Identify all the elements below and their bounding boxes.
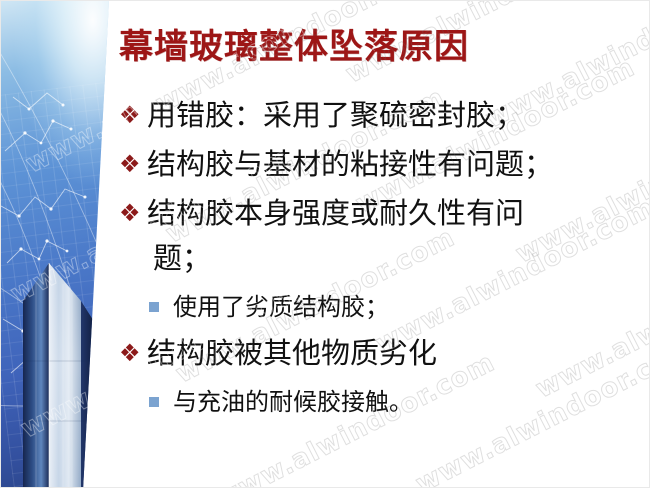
list-item: ❖ 用错胶：采用了聚硫密封胶； [119, 93, 639, 138]
list-item-line1: 结构胶本身强度或耐久性有问 [147, 196, 524, 230]
skyscraper-building [23, 263, 95, 488]
list-item: ❖ 结构胶与基材的粘接性有问题； [119, 142, 639, 187]
list-item-label: 结构胶被其他物质劣化 [147, 331, 639, 376]
diamond-bullet-icon: ❖ [119, 93, 147, 138]
sub-list-item-label: 与充油的耐候胶接触。 [173, 380, 639, 424]
diamond-bullet-icon: ❖ [119, 191, 147, 236]
network-constellation-lines [1, 1, 109, 488]
sub-list-item: 使用了劣质结构胶； [119, 285, 639, 329]
bullet-list: ❖ 用错胶：采用了聚硫密封胶； ❖ 结构胶与基材的粘接性有问题； ❖ 结构胶本身… [119, 93, 639, 426]
sub-list-item-label: 使用了劣质结构胶； [173, 285, 639, 329]
decorative-side-panel [1, 1, 109, 488]
square-bullet-icon [147, 380, 173, 424]
panel-clip [1, 1, 109, 488]
list-item: ❖ 结构胶本身强度或耐久性有问 题； [119, 191, 639, 281]
list-item-label: 结构胶本身强度或耐久性有问 题； [147, 191, 639, 281]
list-item-label: 结构胶与基材的粘接性有问题； [147, 142, 639, 187]
diamond-bullet-icon: ❖ [119, 331, 147, 376]
list-item-label: 用错胶：采用了聚硫密封胶； [147, 93, 639, 138]
list-item: ❖ 结构胶被其他物质劣化 [119, 331, 639, 376]
sub-list-item: 与充油的耐候胶接触。 [119, 380, 639, 424]
presentation-slide: 幕墙玻璃整体坠落原因 ❖ 用错胶：采用了聚硫密封胶； ❖ 结构胶与基材的粘接性有… [0, 0, 650, 488]
list-item-line2: 题； [147, 236, 639, 281]
square-bullet-icon [147, 285, 173, 329]
diamond-bullet-icon: ❖ [119, 142, 147, 187]
slide-title: 幕墙玻璃整体坠落原因 [119, 25, 639, 69]
